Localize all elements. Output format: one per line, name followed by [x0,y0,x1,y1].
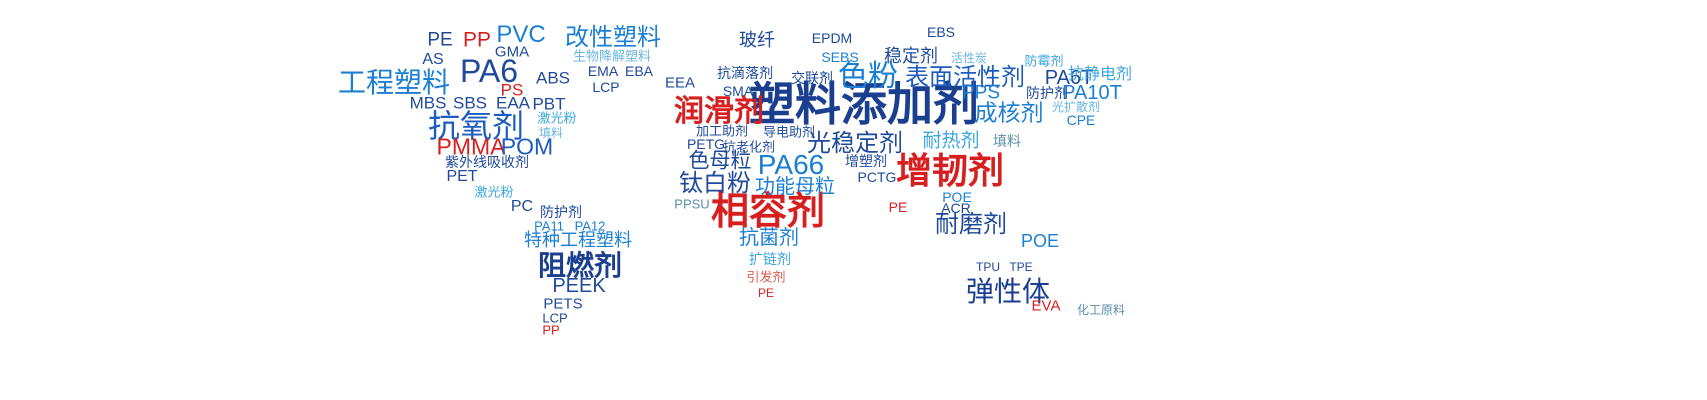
wordcloud-term[interactable]: PET [446,169,477,185]
wordcloud-term[interactable]: 扩链剂 [749,252,791,266]
wordcloud-term[interactable]: 激光粉 [474,186,513,199]
wordcloud-term[interactable]: 色粉 [838,62,898,92]
wordcloud-term[interactable]: 填料 [993,134,1021,148]
wordcloud-term[interactable]: 特种工程塑料 [524,231,632,249]
wordcloud-term[interactable]: 加工助剂 [696,125,748,138]
wordcloud-term[interactable]: ACR [941,201,971,215]
wordcloud-term[interactable]: 耐热剂 [922,132,979,151]
wordcloud-term[interactable]: TPU [976,261,1000,273]
wordcloud-term[interactable]: EMA [588,64,618,78]
wordcloud-term[interactable]: 防霉剂 [1024,55,1063,68]
wordcloud-term[interactable]: LCP [592,80,619,94]
wordcloud-term[interactable]: 抗滴落剂 [717,66,773,80]
wordcloud-term[interactable]: PA66 [758,151,824,179]
wordcloud-term[interactable]: 抗老化剂 [723,141,775,154]
wordcloud-term[interactable]: 成核剂 [975,102,1044,125]
wordcloud-term[interactable]: PC [511,199,533,215]
wordcloud-term[interactable]: TPE [1009,261,1032,273]
wordcloud-term[interactable]: PPS [962,84,1000,103]
wordcloud-term[interactable]: PA11 [534,220,564,233]
wordcloud-term[interactable]: PE [758,287,774,299]
wordcloud-term[interactable]: 激光粉 [537,112,576,125]
wordcloud-term[interactable]: 防护剂 [1026,86,1068,100]
wordcloud-term[interactable]: 引发剂 [746,271,785,284]
wordcloud-term[interactable]: PEEK [552,276,605,296]
wordcloud-term[interactable]: 填料 [539,127,563,139]
wordcloud-term[interactable]: EEA [665,76,695,91]
wordcloud-term[interactable]: SBS [453,95,487,112]
wordcloud-term[interactable]: 玻纤 [739,31,775,49]
wordcloud-term[interactable]: EBS [927,25,955,39]
wordcloud-term[interactable]: 改性塑料 [565,26,661,50]
wordcloud-term[interactable]: 导电助剂 [763,126,815,139]
wordcloud-term[interactable]: EVA [1032,299,1061,314]
wordcloud-term[interactable]: 抗菌剂 [739,228,799,248]
wordcloud-term[interactable]: 生物降解塑料 [573,50,651,63]
wordcloud-term[interactable]: 光扩散剂 [1052,101,1100,113]
wordcloud-term[interactable]: CPE [1067,113,1096,127]
wordcloud-term[interactable]: 抗静电剂 [1068,67,1132,83]
wordcloud-term[interactable]: SEBS [821,50,858,64]
wordcloud-canvas: 塑料添加剂相容剂增韧剂润滑剂色粉抗氧剂工程塑料PA6阻燃剂表面活性剂光稳定剂改性… [0,0,1707,400]
wordcloud-term[interactable]: SMA [723,84,753,98]
wordcloud-term[interactable]: POE [1021,232,1059,250]
wordcloud-term[interactable]: EBA [625,64,653,78]
wordcloud-term[interactable]: 活性炭 [951,52,987,64]
wordcloud-term[interactable]: PP [463,30,491,51]
wordcloud-term[interactable]: EPDM [812,31,852,45]
wordcloud-term[interactable]: PETS [543,297,582,312]
wordcloud-term[interactable]: ABS [536,70,570,87]
wordcloud-term[interactable]: PA12 [575,220,606,233]
wordcloud-term[interactable]: AS [422,52,443,68]
wordcloud-term[interactable]: 增塑剂 [845,154,887,168]
wordcloud-term[interactable]: 润滑剂 [674,97,764,127]
wordcloud-term[interactable]: PS [501,82,524,99]
wordcloud-term[interactable]: PE [889,200,908,214]
wordcloud-term[interactable]: GMA [495,45,529,60]
wordcloud-term[interactable]: PPSU [674,198,709,211]
wordcloud-term[interactable]: PCTG [858,170,897,184]
wordcloud-term[interactable]: MBS [410,95,447,112]
wordcloud-term[interactable]: 防护剂 [540,205,582,219]
wordcloud-term[interactable]: 增韧剂 [896,153,1004,189]
wordcloud-term[interactable]: 紫外线吸收剂 [445,155,529,169]
wordcloud-term[interactable]: 耐磨剂 [935,213,1007,237]
wordcloud-term[interactable]: 化工原料 [1077,304,1125,316]
wordcloud-term[interactable]: 相容剂 [711,193,825,231]
wordcloud-term[interactable]: PE [427,31,452,50]
wordcloud-term[interactable]: 功能母粒 [755,177,835,197]
wordcloud-term[interactable]: PETG [687,137,725,151]
wordcloud-term[interactable]: 交联剂 [791,71,833,85]
wordcloud-term[interactable]: PP [542,324,559,337]
wordcloud-term[interactable]: 钛白粉 [679,172,751,196]
wordcloud-term[interactable]: 稳定剂 [884,47,938,65]
